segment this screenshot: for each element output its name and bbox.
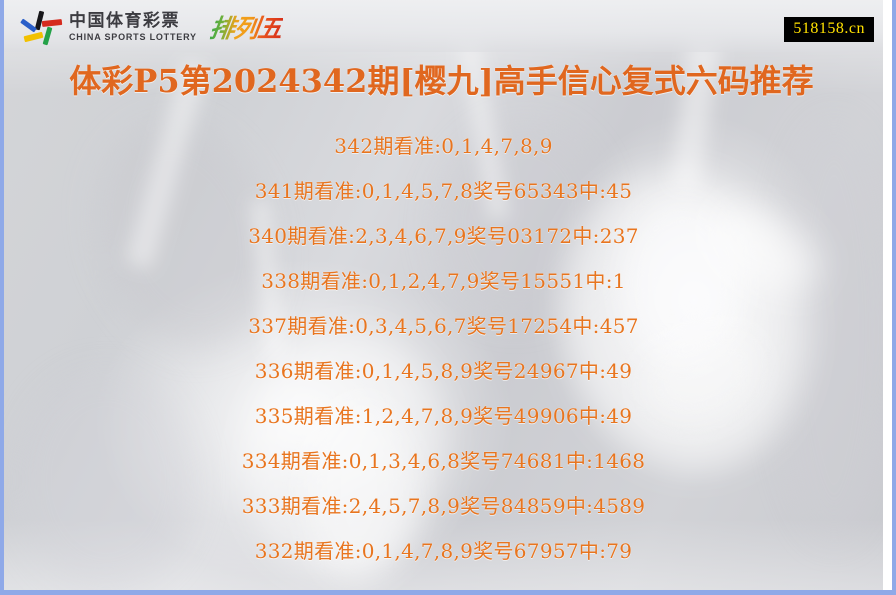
- site-watermark-badge: 518158.cn: [784, 17, 874, 42]
- frame-white-gutter: [883, 0, 892, 591]
- page-title: 体彩P5第2024342期[樱九]高手信心复式六码推荐: [0, 56, 883, 102]
- prediction-row-list: 342期看准:0,1,4,7,8,9 341期看准:0,1,4,5,7,8奖号6…: [4, 122, 883, 572]
- prediction-row: 337期看准:0,3,4,5,6,7奖号17254中:457: [4, 302, 883, 347]
- logo-stick-blue: [20, 18, 37, 32]
- logo-stick-yellow: [24, 32, 44, 42]
- prediction-row: 333期看准:2,4,5,7,8,9奖号84859中:4589: [4, 482, 883, 527]
- brand-name-cn: 中国体育彩票: [69, 13, 197, 30]
- prediction-row: 338期看准:0,1,2,4,7,9奖号15551中:1: [4, 257, 883, 302]
- brand-lockup: 中国体育彩票 CHINA SPORTS LOTTERY 排列五: [18, 5, 282, 49]
- game-name-pailie5: 排列五: [207, 9, 284, 45]
- brand-text: 中国体育彩票 CHINA SPORTS LOTTERY: [69, 13, 197, 42]
- brand-name-en: CHINA SPORTS LOTTERY: [69, 33, 197, 42]
- prediction-row: 340期看准:2,3,4,6,7,9奖号03172中:237: [4, 212, 883, 257]
- prediction-row: 334期看准:0,1,3,4,6,8奖号74681中:1468: [4, 437, 883, 482]
- prediction-row: 342期看准:0,1,4,7,8,9: [4, 122, 883, 167]
- prediction-row: 335期看准:1,2,4,7,8,9奖号49906中:49: [4, 392, 883, 437]
- logo-stick-green: [43, 27, 53, 46]
- prediction-row: 336期看准:0,1,4,5,8,9奖号24967中:49: [4, 347, 883, 392]
- prediction-row: 332期看准:0,1,4,7,8,9奖号67957中:79: [4, 527, 883, 572]
- lottery-recommendation-image: 中国体育彩票 CHINA SPORTS LOTTERY 排列五 518158.c…: [0, 0, 896, 595]
- logo-stick-red: [42, 19, 63, 27]
- china-sports-lottery-logo-icon: [18, 9, 60, 45]
- prediction-row: 341期看准:0,1,4,5,7,8奖号65343中:45: [4, 167, 883, 212]
